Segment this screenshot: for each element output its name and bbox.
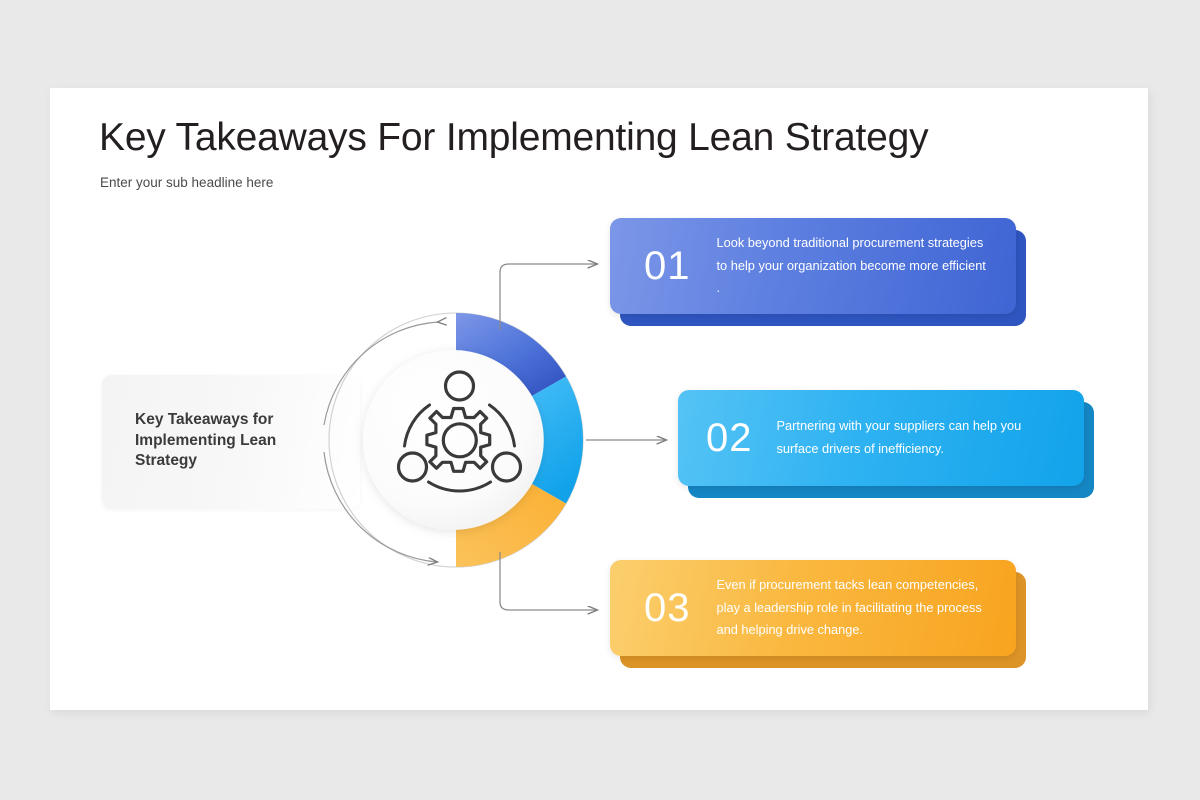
card-1-body[interactable]: 01 Look beyond traditional procurement s… — [610, 218, 1016, 314]
wheel-inner-disc — [363, 350, 543, 530]
takeaway-card-1[interactable]: 01 Look beyond traditional procurement s… — [610, 218, 1016, 314]
slide-root: Key Takeaways For Implementing Lean Stra… — [0, 0, 1200, 800]
card-2-number: 02 — [706, 418, 753, 458]
page-subtitle: Enter your sub headline here — [100, 175, 273, 190]
takeaway-card-3[interactable]: 03 Even if procurement tacks lean compet… — [610, 560, 1016, 656]
card-3-body[interactable]: 03 Even if procurement tacks lean compet… — [610, 560, 1016, 656]
card-3-number: 03 — [644, 588, 691, 628]
card-1-number: 01 — [644, 246, 691, 286]
card-2-text: Partnering with your suppliers can help … — [777, 415, 1085, 461]
center-wheel-graphic — [316, 300, 596, 580]
takeaway-card-2[interactable]: 02 Partnering with your suppliers can he… — [678, 390, 1084, 486]
left-label-text: Key Takeaways for Implementing Lean Stra… — [135, 410, 310, 472]
card-2-body[interactable]: 02 Partnering with your suppliers can he… — [678, 390, 1084, 486]
card-1-text: Look beyond traditional procurement stra… — [717, 232, 1017, 300]
page-title: Key Takeaways For Implementing Lean Stra… — [99, 116, 928, 160]
card-3-text: Even if procurement tacks lean competenc… — [717, 574, 1017, 642]
